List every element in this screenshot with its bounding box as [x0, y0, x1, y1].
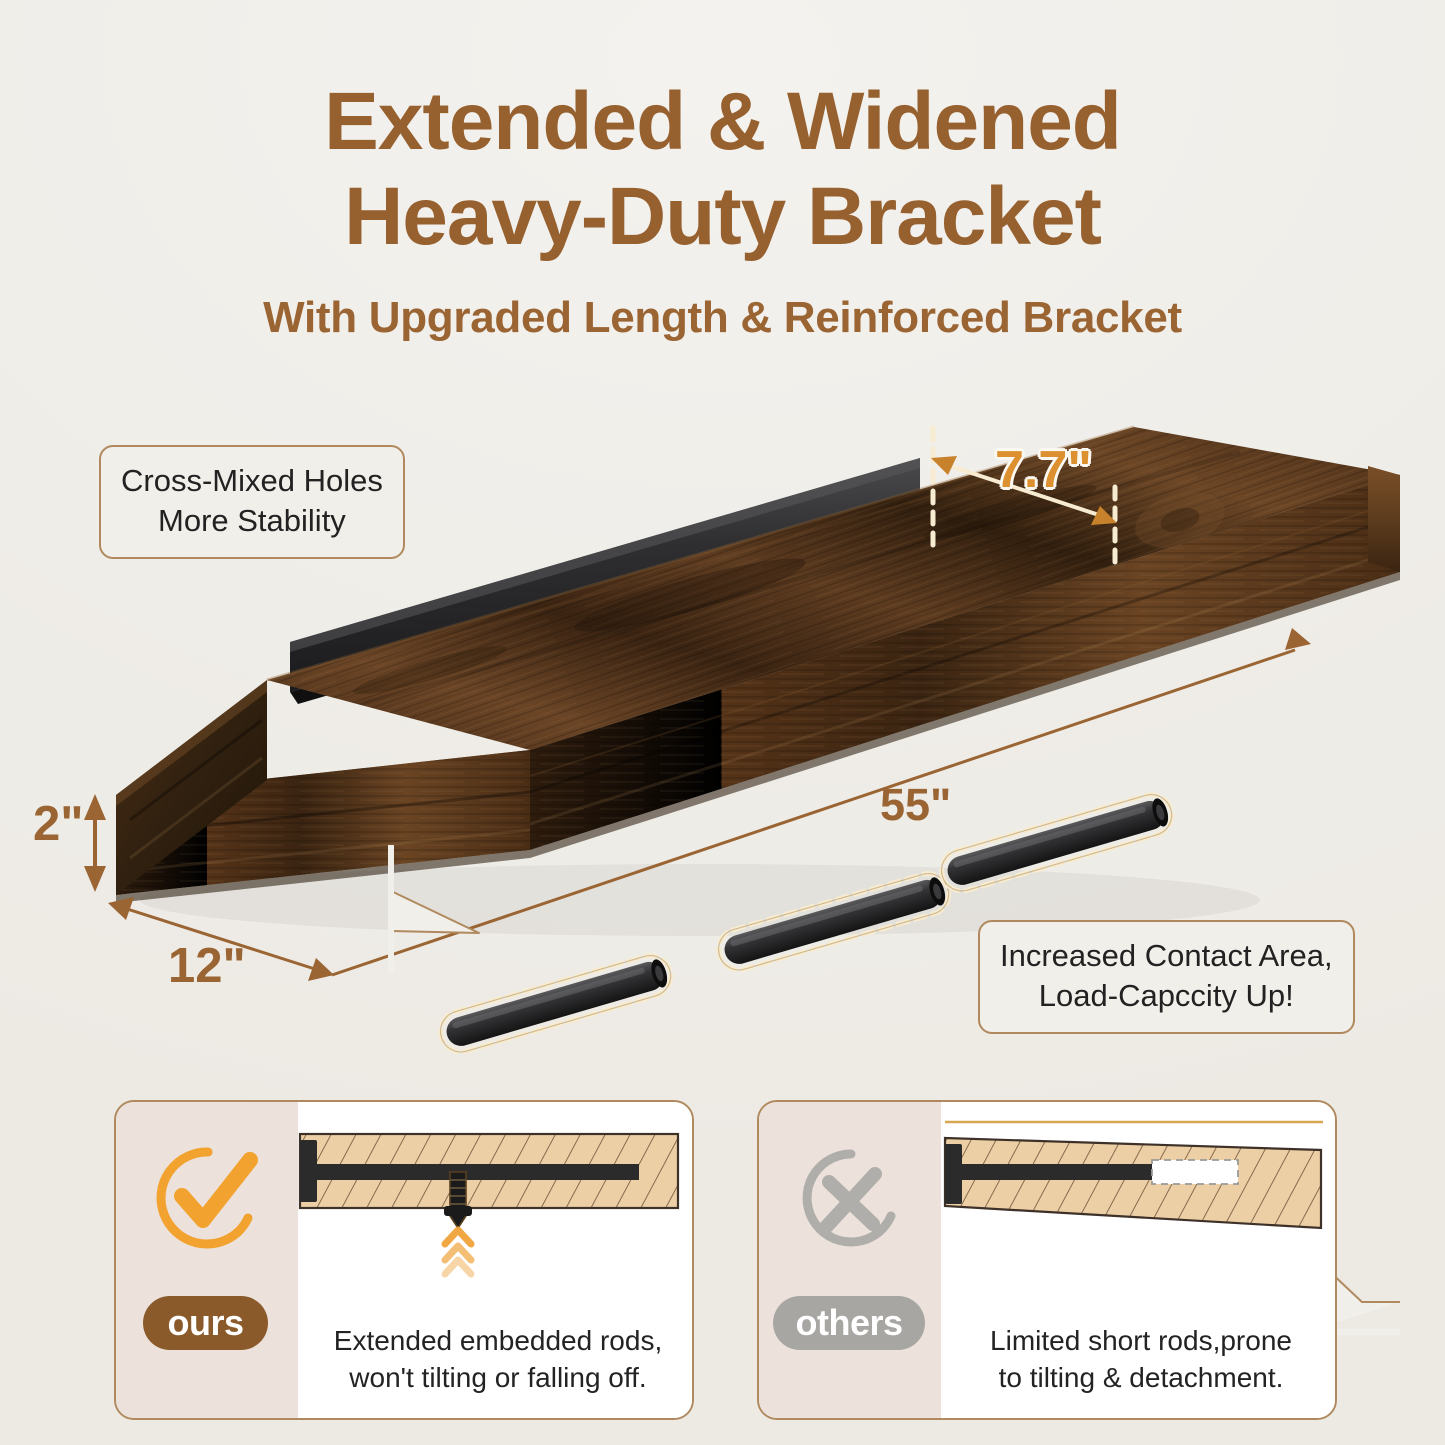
diagram-short-rod-tilted [941, 1102, 1337, 1302]
caption-line-1: Extended embedded rods, [302, 1322, 694, 1359]
callout-increased-contact-area: Increased Contact Area, Load-Capccity Up… [978, 920, 1355, 1034]
comparison-card-ours: ours [114, 1100, 694, 1420]
dimension-label-length: 55" [880, 779, 951, 831]
page-subtitle: With Upgraded Length & Reinforced Bracke… [0, 293, 1445, 343]
embedded-rod-1 [436, 951, 676, 1057]
check-circle-icon [154, 1144, 262, 1252]
x-circle-icon [797, 1144, 905, 1252]
comparison-card-others: others Lim [757, 1100, 1337, 1420]
caption-line-2: to tilting & detachment. [945, 1359, 1337, 1396]
caption-line-1: Limited short rods,prone [945, 1322, 1337, 1359]
callout-cross-mixed-holes: Cross-Mixed Holes More Stability [99, 445, 405, 559]
badge-ours: ours [143, 1296, 268, 1350]
card-caption-ours: Extended embedded rods, won't tilting or… [302, 1322, 694, 1396]
page-title: Extended & Widened Heavy-Duty Bracket [0, 74, 1445, 264]
dimension-label-rod-length: 7.7" [995, 440, 1092, 500]
dimension-label-thickness: 2" [33, 796, 83, 852]
title-line-1: Extended & Widened [0, 74, 1445, 169]
badge-others: others [773, 1296, 925, 1350]
callout-line-2: Load-Capccity Up! [1000, 976, 1333, 1016]
callout-line-1: Increased Contact Area, [1000, 936, 1333, 976]
diagram-rod-fully-embedded [298, 1102, 694, 1302]
caption-line-2: won't tilting or falling off. [302, 1359, 694, 1396]
dimension-length-arrows [1285, 628, 1311, 650]
card-caption-others: Limited short rods,prone to tilting & de… [945, 1322, 1337, 1396]
comparison-section: ours [0, 1100, 1445, 1430]
shelf-right-end-cap [1368, 466, 1400, 572]
title-line-2: Heavy-Duty Bracket [0, 169, 1445, 264]
callout-line-2: More Stability [121, 501, 383, 541]
force-arrows [445, 1230, 471, 1274]
dimension-label-depth: 12" [168, 938, 246, 994]
callout-line-1: Cross-Mixed Holes [121, 461, 383, 501]
